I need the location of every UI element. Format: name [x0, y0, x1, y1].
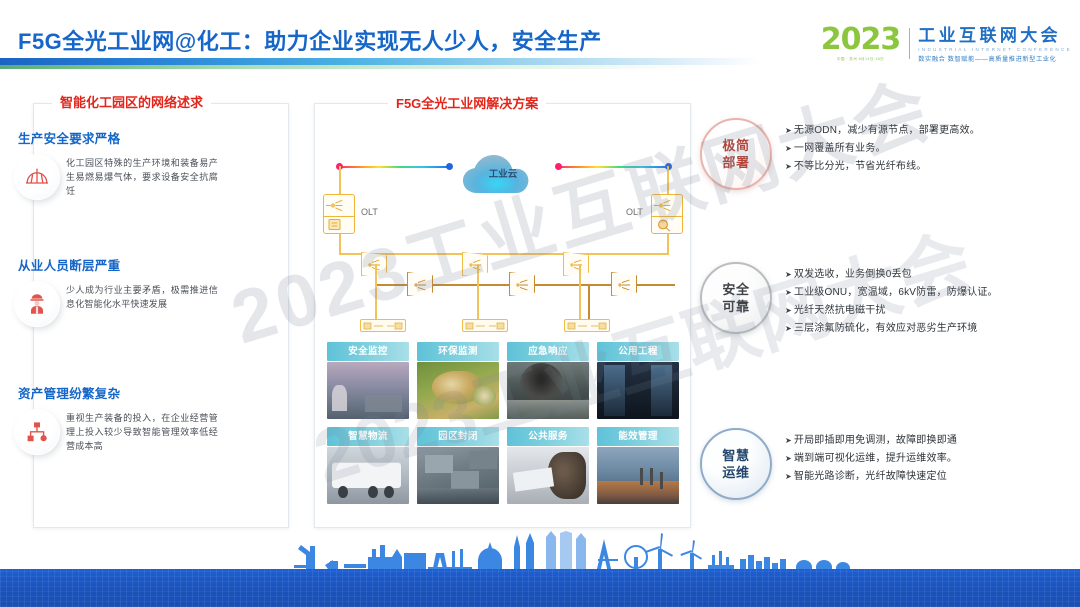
- topology-drop: [579, 264, 581, 321]
- topology-wire: [339, 234, 341, 254]
- feature-badge: 安全 可靠: [700, 262, 772, 334]
- scenario-label: 公用工程: [597, 342, 679, 361]
- requirement-heading: 资产管理纷繁复杂: [18, 383, 256, 402]
- worker-icon: [14, 281, 60, 327]
- feature-bullet: 一网覆盖所有业务。: [785, 140, 980, 158]
- fiber-link-left: [339, 166, 449, 168]
- fiber-endpoint-dot: [446, 163, 453, 170]
- scenario-thumbnail: [327, 447, 409, 504]
- conference-logo: 2023 中国 · 苏州 8月14日-16日 工业互联网大会 INDUSTRIA…: [821, 26, 1072, 63]
- scenario-label: 应急响应: [507, 342, 589, 361]
- feature-badge-line1: 安全: [722, 281, 749, 298]
- requirement-text: 重视生产装备的投入，在企业经营管理上投入较少导致智能管理效率低经营成本高: [66, 409, 218, 453]
- header-accent-bar-blue: [0, 58, 760, 65]
- scenario-grid: 安全监控 环保监测 应急响应 公用工程 智慧物流: [327, 342, 680, 512]
- onu-device: [462, 319, 508, 332]
- feature-badge-line2: 部署: [722, 154, 749, 171]
- feature-badge-line1: 极简: [722, 137, 749, 154]
- scenario-label: 安全监控: [327, 342, 409, 361]
- industrial-cloud-node: 工业云: [455, 146, 551, 202]
- requirement-item-3: 资产管理纷繁复杂 重视生产装备的投入，在企业经营管理上投入较少导致智能管理效率低…: [0, 383, 256, 455]
- olt-device-right: [651, 194, 683, 234]
- cloud-label: 工业云: [455, 166, 551, 180]
- scenario-thumbnail: [507, 447, 589, 504]
- requirement-text: 化工园区特殊的生产环境和装备易产生易燃易爆气体，要求设备安全抗腐饪: [66, 154, 218, 198]
- feature-bullet: 不等比分光，节省光纤布线。: [785, 158, 980, 176]
- footer-blue-band: [0, 569, 1080, 607]
- topology-drop: [588, 284, 590, 321]
- requirement-heading: 从业人员断层严重: [18, 255, 256, 274]
- scenario-card[interactable]: 能效管理: [597, 427, 679, 504]
- scenario-label: 园区封闭: [417, 427, 499, 446]
- feature-bullet: 无源ODN，减少有源节点，部署更高效。: [785, 122, 980, 140]
- requirement-heading: 生产安全要求严格: [18, 128, 256, 147]
- scenario-card[interactable]: 智慧物流: [327, 427, 409, 504]
- logo-chinese-name: 工业互联网大会: [918, 26, 1072, 45]
- scenario-card[interactable]: 公共服务: [507, 427, 589, 504]
- scenario-thumbnail: [507, 362, 589, 419]
- solution-panel: 工业云 OLT: [314, 103, 691, 528]
- page-title: F5G全光工业网@化工：助力企业实现无人少人，安全生产: [18, 24, 602, 56]
- feature-badge: 极简 部署: [700, 118, 772, 190]
- optical-splitter: [462, 252, 488, 276]
- feature-bullet: 智能光路诊断，光纤故障快速定位: [785, 468, 957, 486]
- scenario-label: 智慧物流: [327, 427, 409, 446]
- feature-badge-line2: 可靠: [722, 298, 749, 315]
- olt-device-left: [323, 194, 355, 234]
- olt-label-right: OLT: [626, 207, 643, 217]
- feature-block-secure-reliable: 安全 可靠 双发选收，业务倒换0丢包 工业级ONU，宽温域，6kV防雷，防爆认证…: [700, 262, 998, 338]
- feature-badge-line2: 运维: [722, 464, 749, 481]
- solution-panel-title: F5G全光工业网解决方案: [388, 93, 546, 112]
- feature-badge: 智慧 运维: [700, 428, 772, 500]
- scenario-thumbnail: [327, 362, 409, 419]
- requirement-text: 少人成为行业主要矛盾，极需推进信息化智能化水平快速发展: [66, 281, 218, 311]
- slide-root: F5G全光工业网@化工：助力企业实现无人少人，安全生产 2023 中国 · 苏州…: [0, 0, 1080, 607]
- feature-bullet: 端到端可视化运维，提升运维效率。: [785, 450, 957, 468]
- feature-bullet-list: 无源ODN，减少有源节点，部署更高效。 一网覆盖所有业务。 不等比分光，节省光纤…: [785, 118, 980, 176]
- helmet-icon: [14, 154, 60, 200]
- feature-bullet-list: 开局即插即用免调测，故障即换即通 端到端可视化运维，提升运维效率。 智能光路诊断…: [785, 428, 957, 486]
- topology-drop: [477, 264, 479, 321]
- logo-english-name: INDUSTRIAL INTERNET CONFERENCE: [918, 47, 1072, 52]
- scenario-card[interactable]: 安全监控: [327, 342, 409, 419]
- asset-network-icon: [14, 409, 60, 455]
- feature-badge-line1: 智慧: [722, 447, 749, 464]
- logo-text-block: 工业互联网大会 INDUSTRIAL INTERNET CONFERENCE 数…: [918, 26, 1072, 63]
- scenario-thumbnail: [417, 447, 499, 504]
- scenario-card[interactable]: 环保监测: [417, 342, 499, 419]
- scenario-thumbnail: [597, 362, 679, 419]
- scenario-thumbnail: [417, 362, 499, 419]
- fiber-endpoint-dot: [555, 163, 562, 170]
- feature-bullet: 开局即插即用免调测，故障即换即通: [785, 432, 957, 450]
- onu-device: [360, 319, 406, 332]
- feature-bullet: 工业级ONU，宽温域，6kV防雷，防爆认证。: [785, 284, 998, 302]
- scenario-label: 公共服务: [507, 427, 589, 446]
- optical-splitter-secondary: [407, 272, 433, 296]
- optical-splitter-secondary: [611, 272, 637, 296]
- feature-bullet: 双发选收，业务倒换0丢包: [785, 266, 998, 284]
- feature-bullet: 三层涂氟防硫化，有效应对恶劣生产环境: [785, 320, 998, 338]
- topology-wire: [339, 166, 341, 194]
- optical-splitter-secondary: [509, 272, 535, 296]
- logo-year-block: 2023 中国 · 苏州 8月14日-16日: [821, 26, 910, 62]
- requirement-item-1: 生产安全要求严格 化工园区特殊的生产环境和装备易产生易燃易爆气体，要求设备安全抗…: [0, 128, 256, 200]
- scenario-thumbnail: [597, 447, 679, 504]
- requirement-item-2: 从业人员断层严重 少人成为行业主要矛盾，极需推进信息化智能化水平快速发展: [0, 255, 256, 327]
- optical-splitter: [563, 252, 589, 276]
- topology-wire-trunk: [339, 253, 669, 255]
- scenario-card[interactable]: 园区封闭: [417, 427, 499, 504]
- network-requirements-title: 智能化工园区的网络述求: [52, 92, 211, 111]
- city-skyline-graphic: [0, 531, 1080, 573]
- scenario-row: 安全监控 环保监测 应急响应 公用工程: [327, 342, 680, 419]
- scenario-card[interactable]: 公用工程: [597, 342, 679, 419]
- onu-device: [564, 319, 610, 332]
- logo-year: 2023: [821, 26, 901, 54]
- logo-tagline: 数实融合 数智赋能——高质量推进新型工业化: [918, 54, 1072, 63]
- logo-divider: [909, 28, 910, 59]
- feature-bullet-list: 双发选收，业务倒换0丢包 工业级ONU，宽温域，6kV防雷，防爆认证。 光纤天然…: [785, 262, 998, 338]
- logo-year-subtitle: 中国 · 苏州 8月14日-16日: [821, 57, 901, 62]
- feature-block-smart-om: 智慧 运维 开局即插即用免调测，故障即换即通 端到端可视化运维，提升运维效率。 …: [700, 428, 957, 500]
- scenario-label: 能效管理: [597, 427, 679, 446]
- feature-block-simple-deployment: 极简 部署 无源ODN，减少有源节点，部署更高效。 一网覆盖所有业务。 不等比分…: [700, 118, 980, 190]
- topology-drop: [375, 264, 377, 321]
- scenario-card[interactable]: 应急响应: [507, 342, 589, 419]
- optical-splitter: [361, 252, 387, 276]
- olt-label-left: OLT: [361, 207, 378, 217]
- header-accent-bar-green: [0, 65, 700, 69]
- topology-wire: [667, 234, 669, 254]
- fiber-link-right: [558, 166, 668, 168]
- scenario-row: 智慧物流 园区封闭 公共服务 能效管理: [327, 427, 680, 504]
- topology-wire: [667, 166, 669, 194]
- scenario-label: 环保监测: [417, 342, 499, 361]
- footer-decoration: [0, 535, 1080, 607]
- feature-bullet: 光纤天然抗电磁干扰: [785, 302, 998, 320]
